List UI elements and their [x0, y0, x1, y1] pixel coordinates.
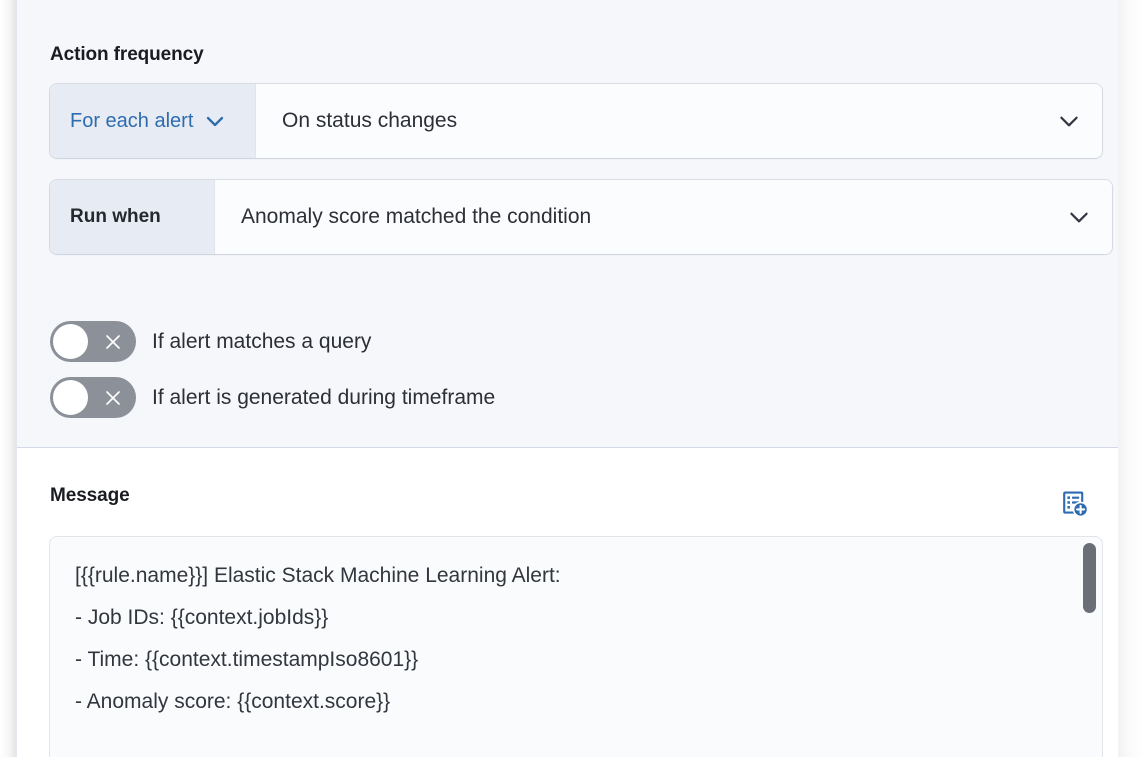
action-frequency-select-row: For each alert On status changes — [50, 84, 1102, 158]
if-alert-matches-a-query-row: If alert matches a query — [50, 321, 371, 362]
flyout-right-shadow — [1117, 0, 1145, 757]
flyout-left-shadow — [0, 0, 16, 757]
if-alert-is-generated-during-timeframe-label: If alert is generated during timeframe — [152, 386, 495, 410]
add-variable-button[interactable] — [1055, 484, 1095, 524]
if-alert-is-generated-during-timeframe-toggle[interactable] — [50, 377, 136, 418]
if-alert-is-generated-during-timeframe-row: If alert is generated during timeframe — [50, 377, 495, 418]
message-section: Message [{{rule.name}}] E — [17, 449, 1118, 757]
run-when-select-row: Run when Anomaly score matched the condi… — [50, 180, 1112, 254]
add-variable-icon — [1061, 490, 1089, 518]
close-x-icon — [103, 332, 123, 352]
close-x-icon — [103, 388, 123, 408]
action-frequency-section: Action frequency For each alert On statu… — [17, 0, 1118, 448]
run-when-select[interactable]: Anomaly score matched the condition — [215, 180, 1112, 254]
message-textarea-wrapper: [{{rule.name}}] Elastic Stack Machine Le… — [50, 537, 1102, 757]
message-textarea[interactable]: [{{rule.name}}] Elastic Stack Machine Le… — [75, 555, 1062, 723]
toggle-knob — [53, 324, 88, 359]
action-frequency-select[interactable]: On status changes — [256, 84, 1102, 158]
action-editor-flyout: Action frequency For each alert On statu… — [0, 0, 1145, 757]
message-textarea-scrollbar[interactable] — [1083, 542, 1096, 749]
message-title: Message — [50, 485, 130, 507]
run-when-label: Run when — [70, 206, 161, 228]
toggle-knob — [53, 380, 88, 415]
action-frequency-value: On status changes — [282, 109, 457, 133]
run-when-prepend: Run when — [50, 180, 215, 254]
chevron-down-icon — [1066, 204, 1092, 230]
for-each-alert-label: For each alert — [70, 110, 193, 133]
if-alert-matches-a-query-toggle[interactable] — [50, 321, 136, 362]
for-each-alert-dropdown-button[interactable]: For each alert — [50, 84, 256, 158]
action-frequency-title: Action frequency — [50, 44, 204, 66]
flyout-panel: Action frequency For each alert On statu… — [16, 0, 1118, 757]
scrollbar-thumb[interactable] — [1083, 543, 1096, 613]
if-alert-matches-a-query-label: If alert matches a query — [152, 330, 371, 354]
chevron-down-icon — [203, 109, 227, 133]
run-when-value: Anomaly score matched the condition — [241, 205, 591, 229]
chevron-down-icon — [1056, 108, 1082, 134]
